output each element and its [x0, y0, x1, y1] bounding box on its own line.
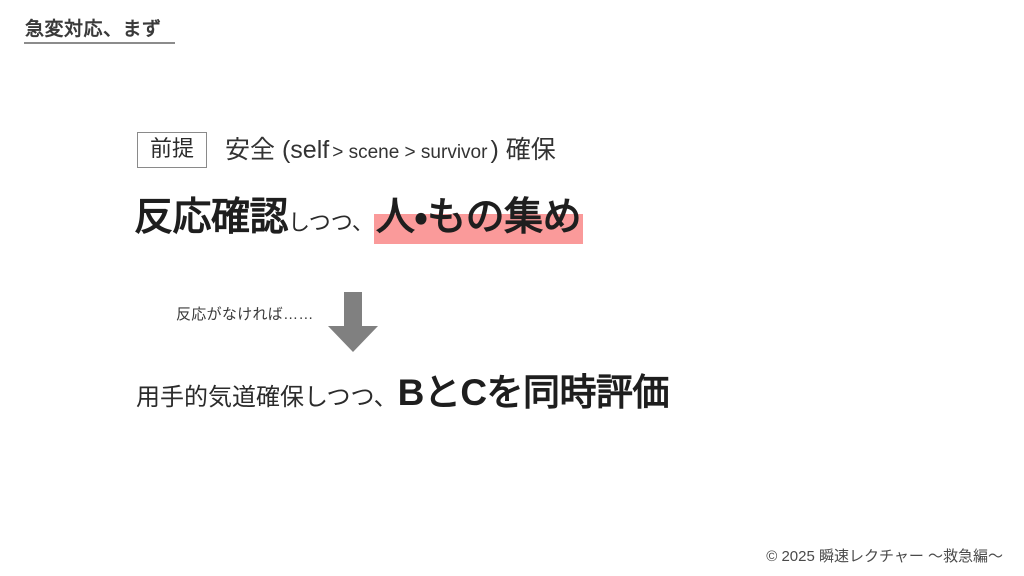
title-underline-rule — [24, 42, 175, 44]
arrow-down-icon — [326, 292, 380, 354]
step-one-highlight-wrapper: 人・もの集め — [374, 198, 583, 239]
connector-group: 反応がなければ…… — [176, 292, 380, 354]
premise-text-part1: 安全 (self — [225, 138, 329, 163]
step-one-lead-text: 反応確認 — [134, 198, 288, 239]
premise-badge: 前提 — [137, 132, 207, 168]
step-one-highlighted-text: 人・もの集め — [376, 196, 581, 239]
premise-text-part2: > scene > survivor — [329, 143, 490, 162]
step-two-line: 用手的気道確保しつつ、 BとCを同時評価 — [136, 374, 669, 411]
step-one-conjunction: しつつ、 — [288, 212, 374, 234]
premise-row: 前提 安全 (self > scene > survivor ) 確保 — [137, 132, 556, 168]
connector-note: 反応がなければ…… — [176, 292, 314, 324]
step-two-prefix: 用手的気道確保しつつ、 — [136, 386, 398, 410]
step-one-line: 反応確認 しつつ、 人・もの集め — [134, 198, 583, 239]
premise-text-part3: ) 確保 — [490, 138, 555, 163]
step-two-emphasis: BとCを同時評価 — [398, 374, 669, 411]
slide-canvas: 急変対応、まず 前提 安全 (self > scene > survivor )… — [0, 0, 1024, 576]
premise-text: 安全 (self > scene > survivor ) 確保 — [225, 138, 556, 163]
footer-copyright: © 2025 瞬速レクチャー 〜救急編〜 — [766, 545, 1003, 566]
page-title: 急変対応、まず — [25, 14, 162, 41]
